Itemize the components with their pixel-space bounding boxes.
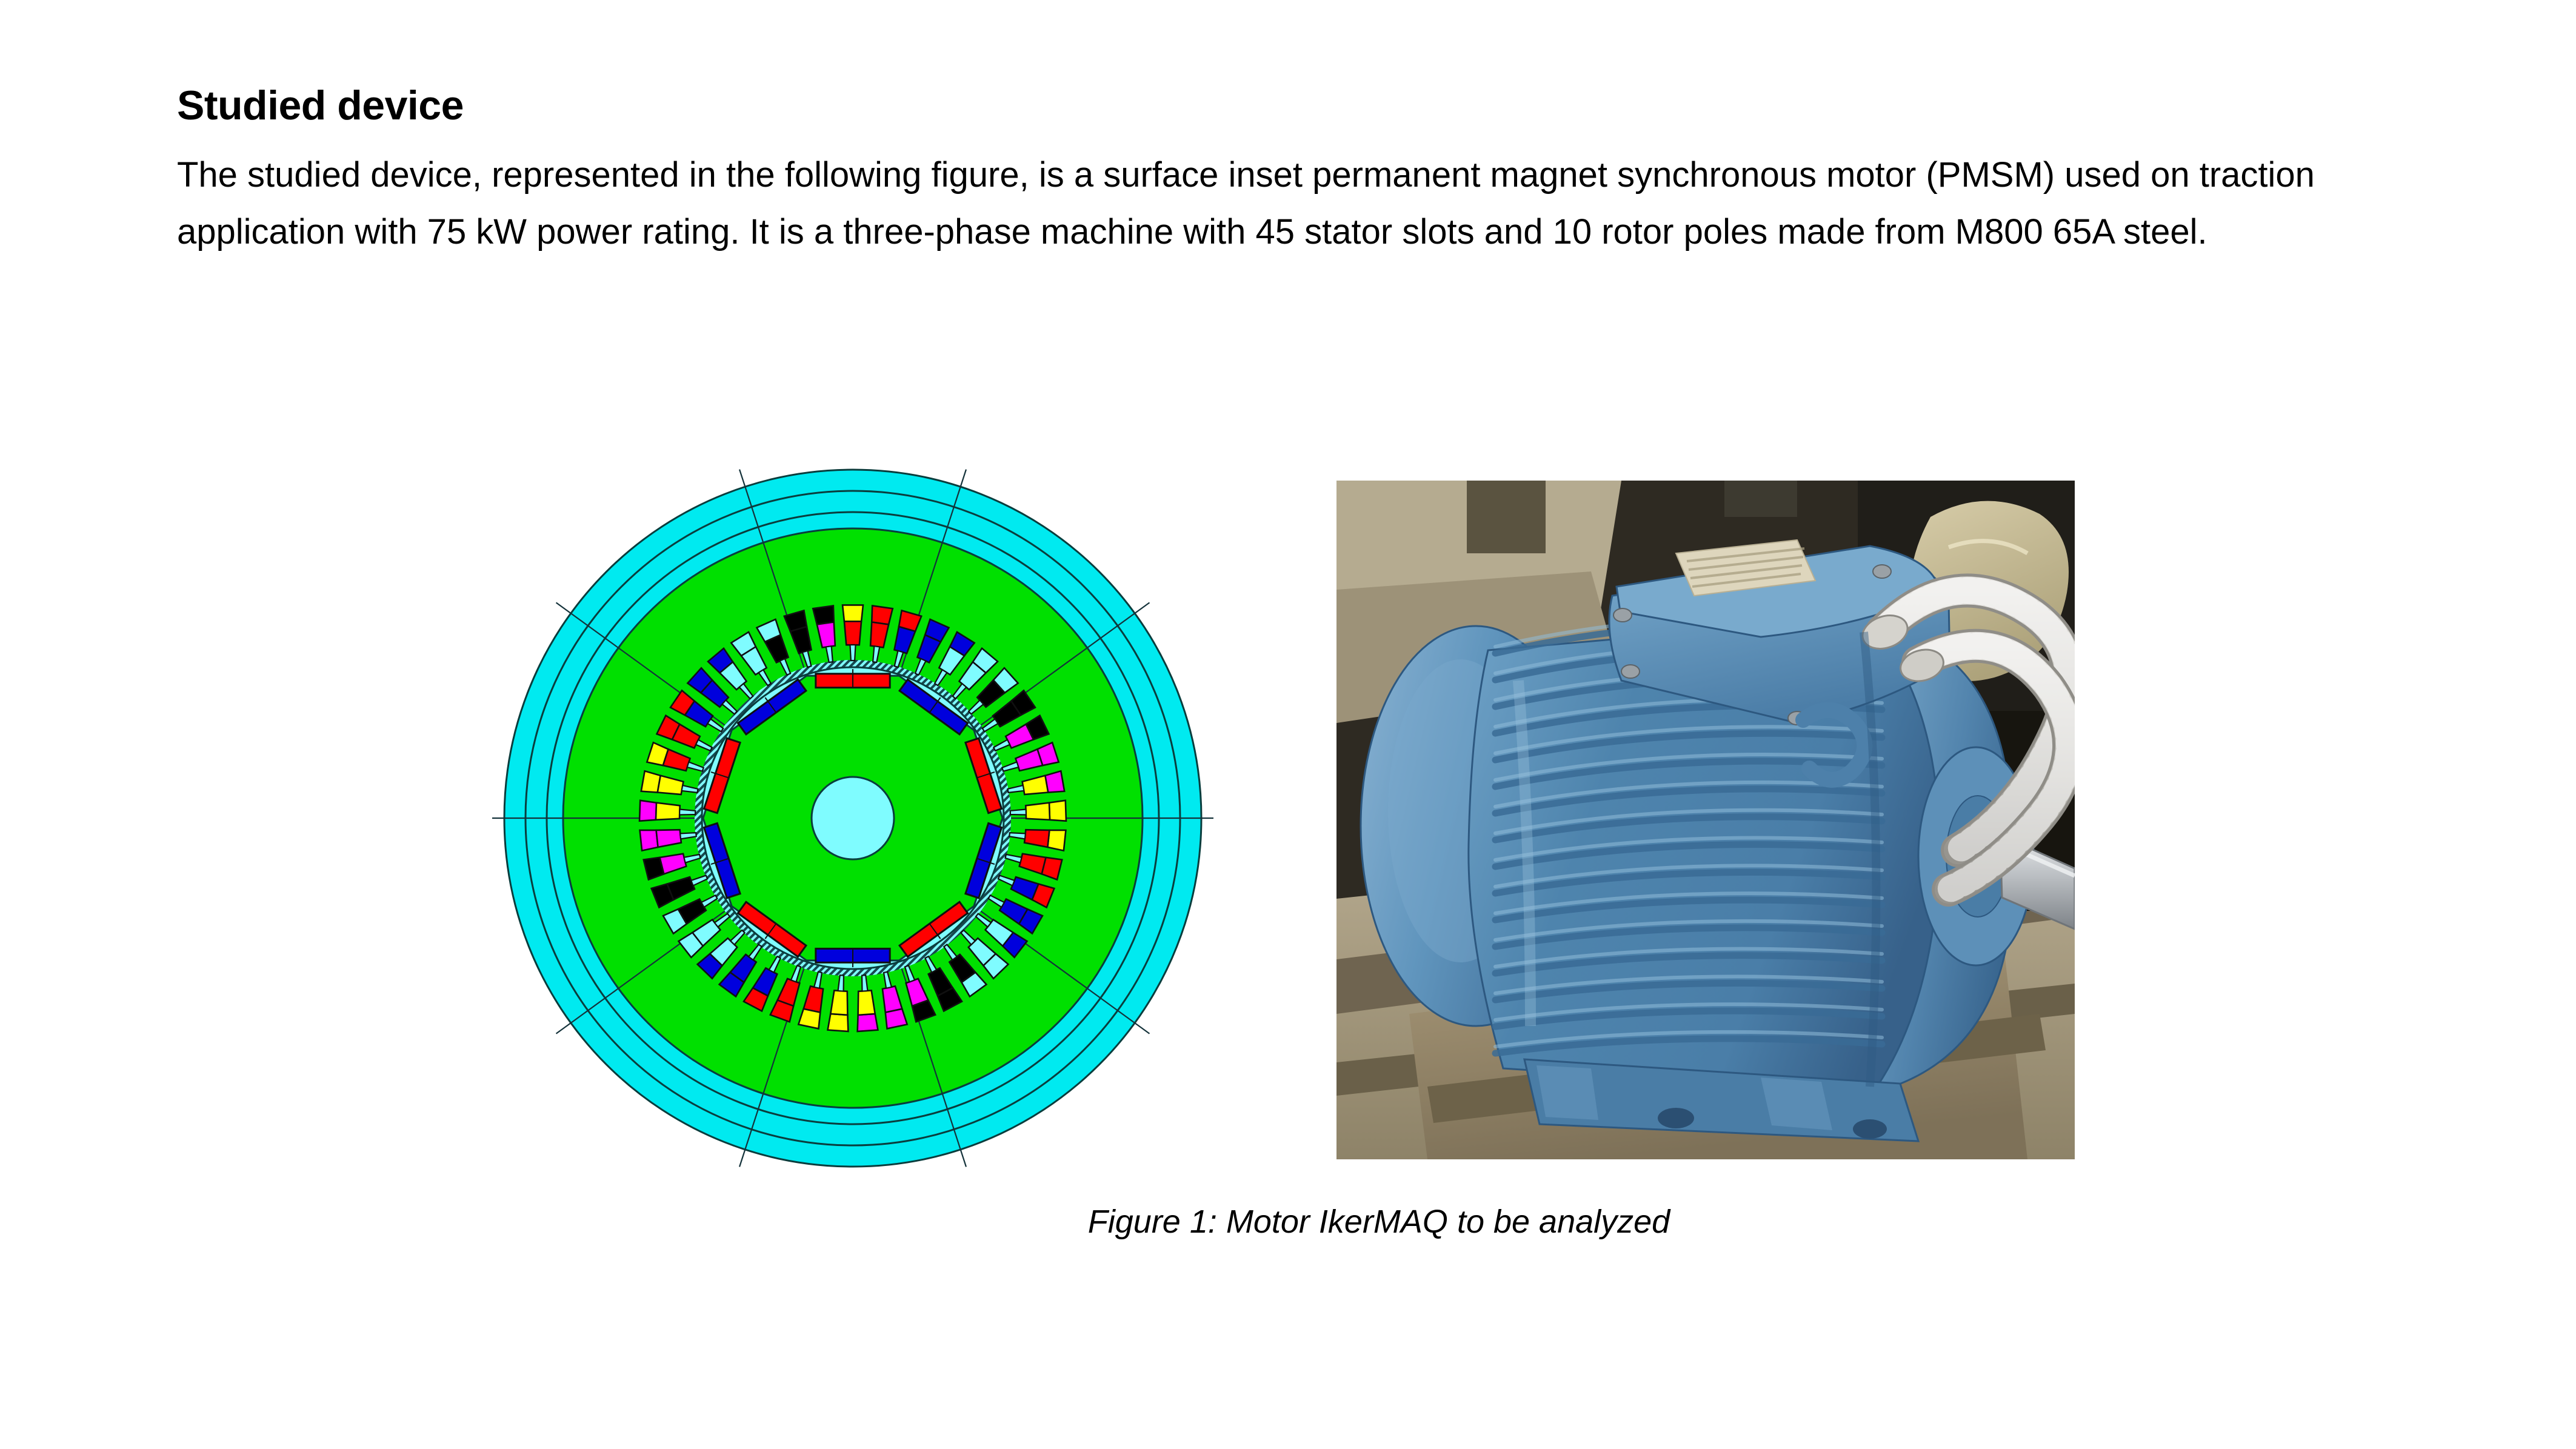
slot-opening — [1010, 810, 1026, 815]
foot-rib-left — [1537, 1065, 1598, 1120]
winding-layer-inner — [1026, 803, 1050, 820]
figure-row — [0, 461, 2576, 1173]
rotor-shaft — [812, 777, 894, 859]
document-page: Studied device The studied device, repre… — [0, 0, 2576, 1449]
winding-layer-outer — [813, 605, 833, 624]
body-paragraph: The studied device, represented in the f… — [177, 147, 2383, 261]
foot-bolt-hole-right — [1853, 1119, 1887, 1139]
winding-layer-outer — [828, 1014, 849, 1031]
winding-layer-outer — [1049, 801, 1066, 821]
page-title: Studied device — [177, 85, 2420, 126]
text-block: Studied device The studied device, repre… — [177, 85, 2420, 261]
foot-bolt-hole-left — [1658, 1108, 1694, 1128]
terminal-box-bolt — [1873, 565, 1891, 578]
winding-layer-outer — [639, 801, 656, 821]
winding-layer-outer — [872, 605, 892, 624]
slot-opening — [850, 645, 855, 661]
winding-layer-outer — [843, 605, 863, 621]
motor-cross-section-figure — [492, 461, 1213, 1173]
winding-layer-outer — [1047, 830, 1066, 851]
winding-layer-inner — [830, 990, 847, 1015]
winding-layer-outer — [858, 1014, 878, 1031]
figure-caption-text: Figure 1: Motor IkerMAQ to be analyzed — [906, 1203, 1670, 1241]
slot-opening — [679, 810, 695, 815]
figure-caption: Figure 1: Motor IkerMAQ to be analyzed — [0, 1203, 2576, 1241]
motor-photo-svg — [1336, 481, 2075, 1159]
winding-layer-inner — [844, 621, 861, 645]
dark-object-top — [1724, 481, 1797, 517]
terminal-box-bolt — [1613, 608, 1632, 622]
winding-layer-inner — [858, 990, 875, 1015]
terminal-box-bolt — [1621, 665, 1640, 678]
motor-photograph-figure — [1336, 481, 2075, 1159]
foot-rib-right — [1761, 1078, 1832, 1130]
cross-section-svg — [492, 461, 1213, 1173]
winding-layer-outer — [640, 830, 658, 851]
drum-object — [1467, 481, 1546, 553]
winding-layer-inner — [656, 803, 680, 820]
